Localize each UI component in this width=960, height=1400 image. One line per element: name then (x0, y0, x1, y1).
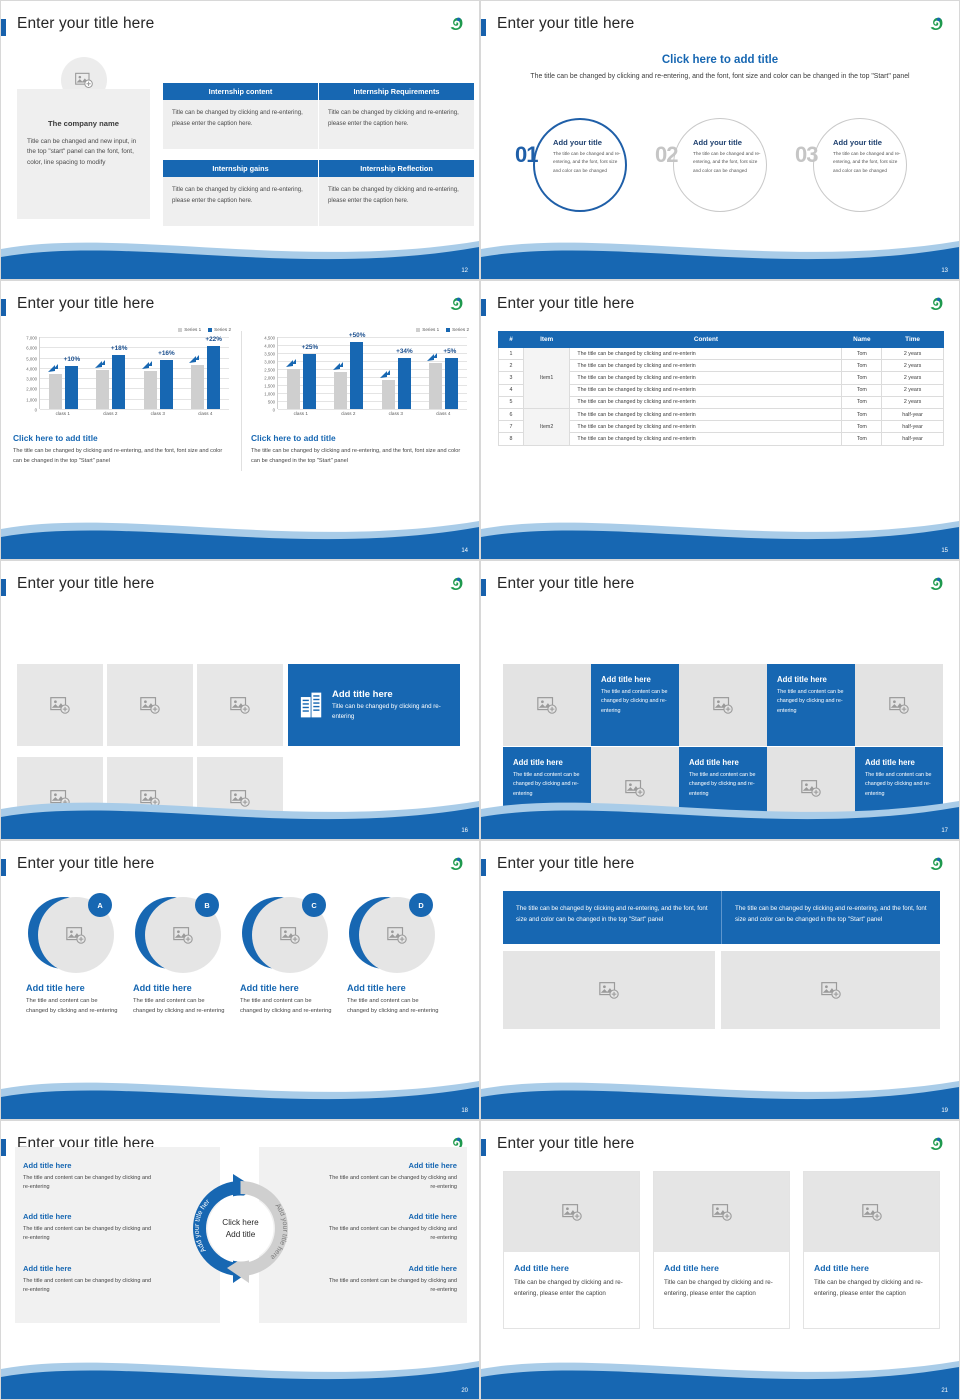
chart-2-x-labels: class 1class 2class 3class 4 (277, 411, 467, 416)
table-cell-content: The title can be changed by clicking and… (570, 396, 842, 408)
step-02[interactable]: 02 Add your title The title can be chang… (649, 116, 797, 214)
x-tick-label: class 4 (425, 411, 461, 416)
info-card-4-title: Internship Reflection (319, 160, 474, 177)
bar-series-1 (287, 369, 300, 409)
table-header-1: Item (523, 332, 569, 348)
slide-header: Enter your title here (1, 575, 479, 603)
y-tick-label: 5,000 (26, 356, 37, 361)
table-cell-time: half-year (882, 408, 944, 420)
info-card-3-title: Internship gains (163, 160, 318, 177)
right-item-3-body: The title and content can be changed by … (322, 1277, 457, 1296)
table-cell-name: Tom (842, 396, 882, 408)
y-tick-label: 0 (273, 408, 275, 413)
card-title: Add title here (664, 1263, 789, 1273)
company-swirl-logo-icon (448, 576, 465, 593)
highlight-card-title: Add title here (332, 689, 448, 700)
table-cell-time: 2 years (882, 360, 944, 372)
bar-series-1 (49, 374, 62, 409)
left-item-1-body: The title and content can be changed by … (23, 1174, 158, 1193)
table-cell-content: The title can be changed by clicking and… (570, 421, 842, 433)
page-number: 17 (941, 828, 948, 834)
slide-20[interactable]: Enter your title here Add title here The… (0, 1120, 480, 1400)
add-image-icon (49, 694, 71, 716)
bar-group: +5% (425, 337, 461, 409)
page-title: Enter your title here (497, 575, 634, 593)
company-swirl-logo-icon (448, 296, 465, 313)
table-cell-time: 2 years (882, 372, 944, 384)
slide-header: Enter your title here (481, 1135, 959, 1163)
info-card-3[interactable]: Internship gains Title can be changed by… (163, 160, 318, 226)
bar-chart-1: Series 1 Series 2 01,0002,0003,0004,0005… (13, 327, 235, 427)
image-placeholder-right[interactable] (721, 951, 940, 1029)
step-title: Add your title (553, 138, 602, 147)
image-placeholder[interactable] (654, 1172, 789, 1252)
step-body: The title can be changed and re-entering… (833, 150, 905, 175)
left-item-2-title[interactable]: Add title here (23, 1212, 72, 1221)
company-swirl-logo-icon (928, 296, 945, 313)
legend-series-2: Series 2 (208, 327, 231, 332)
y-tick-label: 1,500 (264, 384, 275, 389)
bar-series-1 (334, 372, 347, 409)
add-image-icon (861, 1201, 883, 1223)
page-number: 19 (941, 1108, 948, 1114)
up-arrow-icon (188, 354, 200, 364)
table-cell-content: The title can be changed by clicking and… (570, 348, 842, 360)
page-title: Enter your title here (17, 855, 154, 873)
cycle-center-label: Click here Add title (183, 1217, 298, 1241)
feature-body: The title and content can be changed by … (26, 996, 118, 1016)
title-accent-bar (481, 299, 486, 316)
add-image-icon (279, 924, 301, 946)
table-header-3: Name (842, 332, 882, 348)
footer-wave-decoration (1, 223, 479, 279)
page-number: 12 (461, 268, 468, 274)
info-card-2-title: Internship Requirements (319, 83, 474, 100)
chart-2-caption-title[interactable]: Click here to add title (251, 433, 336, 443)
company-description: Title can be changed and new input, in t… (27, 137, 142, 168)
table-cell-name: Tom (842, 433, 882, 445)
footer-wave-decoration (1, 1343, 479, 1399)
chart-2-plot: 05001,0001,5002,0002,5003,0003,5004,0004… (277, 337, 467, 409)
table-cell-content: The title can be changed by clicking and… (570, 433, 842, 445)
growth-annotation: +18% (111, 345, 128, 352)
step-body: The title can be changed and re-entering… (553, 150, 625, 175)
bar-series-2 (303, 354, 316, 409)
badge-letter: A (88, 893, 112, 917)
info-card-4-body: Title can be changed by clicking and re-… (319, 177, 474, 226)
x-tick-label: class 4 (187, 411, 223, 416)
badge-letter: C (302, 893, 326, 917)
company-swirl-logo-icon (928, 1136, 945, 1153)
bar-chart-2: Series 1 Series 2 05001,0001,5002,0002,5… (251, 327, 473, 427)
blue-text-left: The title can be changed by clicking and… (503, 891, 721, 944)
table-cell-name: Tom (842, 421, 882, 433)
growth-annotation: +5% (443, 348, 456, 355)
right-item-3-title[interactable]: Add title here (408, 1264, 457, 1273)
image-placeholder[interactable] (855, 664, 943, 746)
footer-wave-decoration (1, 503, 479, 559)
data-table[interactable]: #ItemContentNameTime 1Item1The title can… (498, 331, 944, 446)
tile-title: Add title here (689, 758, 757, 767)
y-tick-label: 7,000 (26, 336, 37, 341)
x-tick-label: class 1 (283, 411, 319, 416)
chart-1-x-labels: class 1class 2class 3class 4 (39, 411, 229, 416)
footer-wave-decoration (481, 503, 959, 559)
y-tick-label: 2,000 (26, 387, 37, 392)
add-image-icon (65, 924, 87, 946)
table-cell-time: 2 years (882, 384, 944, 396)
text-tile[interactable]: Add title here The title and content can… (767, 664, 855, 746)
page-title: Enter your title here (497, 1135, 634, 1153)
highlight-card[interactable]: Add title here Title can be changed by c… (288, 664, 460, 746)
table-header-row: #ItemContentNameTime (499, 332, 944, 348)
add-image-icon (561, 1201, 583, 1223)
card-body: Title can be changed by clicking and re-… (514, 1277, 629, 1299)
step-title: Add your title (693, 138, 742, 147)
table-cell-time: half-year (882, 421, 944, 433)
bar-series-2 (398, 358, 411, 409)
left-item-3-body: The title and content can be changed by … (23, 1277, 158, 1296)
title-accent-bar (481, 1139, 486, 1156)
company-swirl-logo-icon (928, 16, 945, 33)
y-tick-label: 4,000 (264, 344, 275, 349)
up-arrow-icon (94, 359, 106, 369)
table-cell-index: 5 (499, 396, 524, 408)
bar-group: +50% (331, 337, 367, 409)
info-card-2-body: Title can be changed by clicking and re-… (319, 100, 474, 149)
step-number: 01 (515, 142, 537, 168)
footer-wave-decoration (1, 1063, 479, 1119)
y-tick-label: 2,000 (264, 376, 275, 381)
step-body: The title can be changed and re-entering… (693, 150, 765, 175)
card-body: Title can be changed by clicking and re-… (664, 1277, 779, 1299)
slide-21[interactable]: Enter your title here Add title here Tit… (480, 1120, 960, 1400)
info-card-3-body: Title can be changed by clicking and re-… (163, 177, 318, 226)
page-number: 15 (941, 548, 948, 554)
cycle-diagram[interactable]: Add your title here Add your title here … (183, 1171, 298, 1286)
page-number: 16 (461, 828, 468, 834)
footer-wave-decoration (481, 1343, 959, 1399)
table-cell-time: half-year (882, 433, 944, 445)
growth-annotation: +50% (349, 332, 366, 339)
table-cell-content: The title can be changed by clicking and… (570, 372, 842, 384)
image-placeholder[interactable] (197, 664, 283, 746)
y-tick-label: 3,500 (264, 352, 275, 357)
title-accent-bar (481, 19, 486, 36)
bar-series-group: +25%+50%+34%+5% (278, 337, 467, 409)
image-placeholder[interactable] (503, 664, 591, 746)
y-tick-label: 3,000 (264, 360, 275, 365)
blue-text-right: The title can be changed by clicking and… (721, 891, 940, 944)
title-accent-bar (481, 579, 486, 596)
table-cell-index: 8 (499, 433, 524, 445)
footer-wave-decoration (1, 783, 479, 839)
card-title: Add title here (814, 1263, 939, 1273)
bar-series-2 (160, 360, 173, 409)
tile-title: Add title here (513, 758, 581, 767)
step-title: Add your title (833, 138, 882, 147)
tile-body: The title and content can be changed by … (601, 688, 669, 716)
card-body: Title can be changed by clicking and re-… (814, 1277, 929, 1299)
page-title: Enter your title here (17, 15, 154, 33)
bar-series-2 (65, 366, 78, 409)
bar-group: +18% (93, 337, 129, 409)
page-title: Enter your title here (17, 575, 154, 593)
slide-12[interactable]: Enter your title here The company name T… (0, 0, 480, 280)
info-card-4[interactable]: Internship Reflection Title can be chang… (319, 160, 474, 226)
slide-13[interactable]: Enter your title here Click here to add … (480, 0, 960, 280)
table-header-2: Content (570, 332, 842, 348)
right-item-2-title[interactable]: Add title here (408, 1212, 457, 1221)
slide-14[interactable]: Enter your title here Series 1 Series 2 … (0, 280, 480, 560)
image-placeholder[interactable] (17, 664, 103, 746)
table-row[interactable]: 6Item2The title can be changed by clicki… (499, 408, 944, 420)
company-swirl-logo-icon (928, 576, 945, 593)
gridline: 0 (40, 409, 229, 410)
company-swirl-logo-icon (448, 856, 465, 873)
bar-series-1 (429, 363, 442, 409)
bar-series-2 (207, 346, 220, 409)
add-image-icon (172, 924, 194, 946)
y-tick-label: 1,000 (264, 392, 275, 397)
tile-title: Add title here (777, 675, 845, 684)
info-card-1-title: Internship content (163, 83, 318, 100)
feature-body: The title and content can be changed by … (347, 996, 439, 1016)
table-cell-index: 7 (499, 421, 524, 433)
slide-header: Enter your title here (481, 575, 959, 603)
divider (241, 331, 242, 471)
slide-deck: Enter your title here The company name T… (0, 0, 960, 1400)
table-cell-time: 2 years (882, 396, 944, 408)
table-cell-name: Tom (842, 384, 882, 396)
feature-body: The title and content can be changed by … (240, 996, 332, 1016)
step-number: 02 (655, 142, 677, 168)
title-accent-bar (1, 579, 6, 596)
bar-group: +34% (378, 337, 414, 409)
chart-2-caption-body: The title can be changed by clicking and… (251, 446, 466, 467)
growth-annotation: +25% (302, 344, 319, 351)
table-cell-content: The title can be changed by clicking and… (570, 408, 842, 420)
up-arrow-icon (379, 369, 391, 379)
bar-series-1 (96, 370, 109, 409)
bar-series-1 (191, 365, 204, 409)
slide-18[interactable]: Enter your title here A Add title here T… (0, 840, 480, 1120)
badge-letter: B (195, 893, 219, 917)
page-number: 14 (461, 548, 468, 554)
page-title: Enter your title here (497, 855, 634, 873)
slide-16[interactable]: Enter your title here (0, 560, 480, 840)
page-title: Enter your title here (497, 15, 634, 33)
chart-1-caption-title[interactable]: Click here to add title (13, 433, 98, 443)
page-number: 20 (461, 1388, 468, 1394)
y-tick-label: 1,000 (26, 397, 37, 402)
left-item-3-title[interactable]: Add title here (23, 1264, 72, 1273)
table-cell-index: 4 (499, 384, 524, 396)
image-card-2[interactable]: Add title here Title can be changed by c… (653, 1171, 790, 1329)
legend-series-1: Series 1 (416, 327, 439, 332)
step-03[interactable]: 03 Add your title The title can be chang… (789, 116, 937, 214)
step-number: 03 (795, 142, 817, 168)
table-header-0: # (499, 332, 524, 348)
table-cell-item: Item1 (523, 348, 569, 409)
y-tick-label: 500 (268, 400, 275, 405)
table-cell-name: Tom (842, 372, 882, 384)
table-cell-index: 6 (499, 408, 524, 420)
building-icon (300, 690, 323, 720)
badge-letter: D (409, 893, 433, 917)
legend-series-2: Series 2 (446, 327, 469, 332)
x-tick-label: class 3 (140, 411, 176, 416)
bar-series-2 (112, 355, 125, 410)
chart-1-legend: Series 1 Series 2 (178, 327, 231, 332)
page-title: Enter your title here (497, 295, 634, 313)
text-tile[interactable]: Add title here The title and content can… (591, 664, 679, 746)
image-placeholder-left[interactable] (503, 951, 715, 1029)
section-heading: Click here to add title (481, 54, 959, 66)
chart-1-plot: 01,0002,0003,0004,0005,0006,0007,000+10%… (39, 337, 229, 409)
info-card-1-body: Title can be changed by clicking and re-… (163, 100, 318, 149)
x-tick-label: class 2 (330, 411, 366, 416)
growth-annotation: +34% (396, 348, 413, 355)
title-accent-bar (1, 19, 6, 36)
slide-header: Enter your title here (481, 15, 959, 43)
page-number: 13 (941, 268, 948, 274)
left-item-1-title[interactable]: Add title here (23, 1161, 72, 1170)
feature-title: Add title here (240, 983, 299, 993)
add-image-icon (74, 70, 94, 90)
tile-title: Add title here (865, 758, 933, 767)
table-header-4: Time (882, 332, 944, 348)
y-tick-label: 0 (35, 408, 37, 413)
bar-series-2 (350, 342, 363, 409)
add-image-icon (386, 924, 408, 946)
table-cell-index: 2 (499, 360, 524, 372)
bar-series-1 (144, 371, 157, 409)
step-01[interactable]: 01 Add your title The title can be chang… (509, 116, 657, 214)
slide-19[interactable]: Enter your title here The title can be c… (480, 840, 960, 1120)
add-image-icon (888, 694, 910, 716)
table-cell-index: 3 (499, 372, 524, 384)
add-image-icon (229, 694, 251, 716)
company-swirl-logo-icon (928, 856, 945, 873)
y-tick-label: 4,500 (264, 336, 275, 341)
y-tick-label: 4,000 (26, 366, 37, 371)
y-tick-label: 6,000 (26, 346, 37, 351)
bar-series-2 (445, 358, 458, 409)
up-arrow-icon (141, 360, 153, 370)
add-image-icon (820, 979, 842, 1001)
x-tick-label: class 2 (92, 411, 128, 416)
up-arrow-icon (426, 352, 438, 362)
info-card-2[interactable]: Internship Requirements Title can be cha… (319, 83, 474, 149)
bar-series-group: +10%+18%+16%+22% (40, 337, 229, 409)
table-cell-time: 2 years (882, 348, 944, 360)
title-accent-bar (1, 299, 6, 316)
section-subtitle: The title can be changed by clicking and… (481, 71, 959, 82)
slide-header: Enter your title here (1, 855, 479, 883)
image-placeholder[interactable] (107, 664, 193, 746)
left-item-2-body: The title and content can be changed by … (23, 1225, 158, 1244)
bar-group: +16% (140, 337, 176, 409)
table-cell-index: 1 (499, 348, 524, 360)
growth-annotation: +16% (158, 350, 175, 357)
growth-annotation: +10% (64, 356, 81, 363)
title-accent-bar (1, 1139, 6, 1156)
tile-title: Add title here (601, 675, 669, 684)
feature-title: Add title here (347, 983, 406, 993)
table-cell-content: The title can be changed by clicking and… (570, 360, 842, 372)
blue-text-bar[interactable]: The title can be changed by clicking and… (503, 891, 940, 944)
company-swirl-logo-icon (448, 16, 465, 33)
bar-group: +22% (187, 337, 223, 409)
feature-title: Add title here (26, 983, 85, 993)
image-card-3[interactable]: Add title here Title can be changed by c… (803, 1171, 940, 1329)
card-title: Add title here (514, 1263, 639, 1273)
x-tick-label: class 1 (45, 411, 81, 416)
image-placeholder[interactable] (804, 1172, 939, 1252)
highlight-card-body: Title can be changed by clicking and re-… (332, 702, 448, 722)
footer-wave-decoration (481, 1063, 959, 1119)
add-image-icon (598, 979, 620, 1001)
add-image-icon (711, 1201, 733, 1223)
up-arrow-icon (285, 358, 297, 368)
legend-series-1: Series 1 (178, 327, 201, 332)
bar-group: +10% (46, 337, 82, 409)
right-item-1-title[interactable]: Add title here (408, 1161, 457, 1170)
image-card-1[interactable]: Add title here Title can be changed by c… (503, 1171, 640, 1329)
footer-wave-decoration (481, 223, 959, 279)
y-tick-label: 3,000 (26, 377, 37, 382)
title-accent-bar (1, 859, 6, 876)
y-tick-label: 2,500 (264, 368, 275, 373)
add-image-icon (712, 694, 734, 716)
slide-17[interactable]: Enter your title here Add title here The… (480, 560, 960, 840)
table-cell-name: Tom (842, 348, 882, 360)
up-arrow-icon (332, 361, 344, 371)
footer-wave-decoration (481, 783, 959, 839)
add-image-icon (536, 694, 558, 716)
image-placeholder[interactable] (504, 1172, 639, 1252)
bar-series-1 (382, 380, 395, 409)
image-placeholder[interactable] (679, 664, 767, 746)
bar-group: +25% (284, 337, 320, 409)
table-cell-content: The title can be changed by clicking and… (570, 384, 842, 396)
page-number: 18 (461, 1108, 468, 1114)
chart-1-caption-body: The title can be changed by clicking and… (13, 446, 228, 467)
up-arrow-icon (47, 363, 59, 373)
slide-header: Enter your title here (481, 295, 959, 323)
right-item-1-body: The title and content can be changed by … (322, 1174, 457, 1193)
page-title: Enter your title here (17, 295, 154, 313)
feature-body: The title and content can be changed by … (133, 996, 225, 1016)
right-item-2-body: The title and content can be changed by … (322, 1225, 457, 1244)
tile-body: The title and content can be changed by … (777, 688, 845, 716)
add-image-icon (139, 694, 161, 716)
table-cell-name: Tom (842, 360, 882, 372)
slide-header: Enter your title here (481, 855, 959, 883)
gridline: 0 (278, 409, 467, 410)
chart-2-legend: Series 1 Series 2 (416, 327, 469, 332)
slide-header: Enter your title here (1, 15, 479, 43)
company-name: The company name (17, 119, 150, 128)
page-number: 21 (941, 1388, 948, 1394)
title-accent-bar (481, 859, 486, 876)
table-cell-name: Tom (842, 408, 882, 420)
slide-15[interactable]: Enter your title here #ItemContentNameTi… (480, 280, 960, 560)
table-cell-item: Item2 (523, 408, 569, 445)
table-row[interactable]: 1Item1The title can be changed by clicki… (499, 348, 944, 360)
info-card-1[interactable]: Internship content Title can be changed … (163, 83, 318, 149)
